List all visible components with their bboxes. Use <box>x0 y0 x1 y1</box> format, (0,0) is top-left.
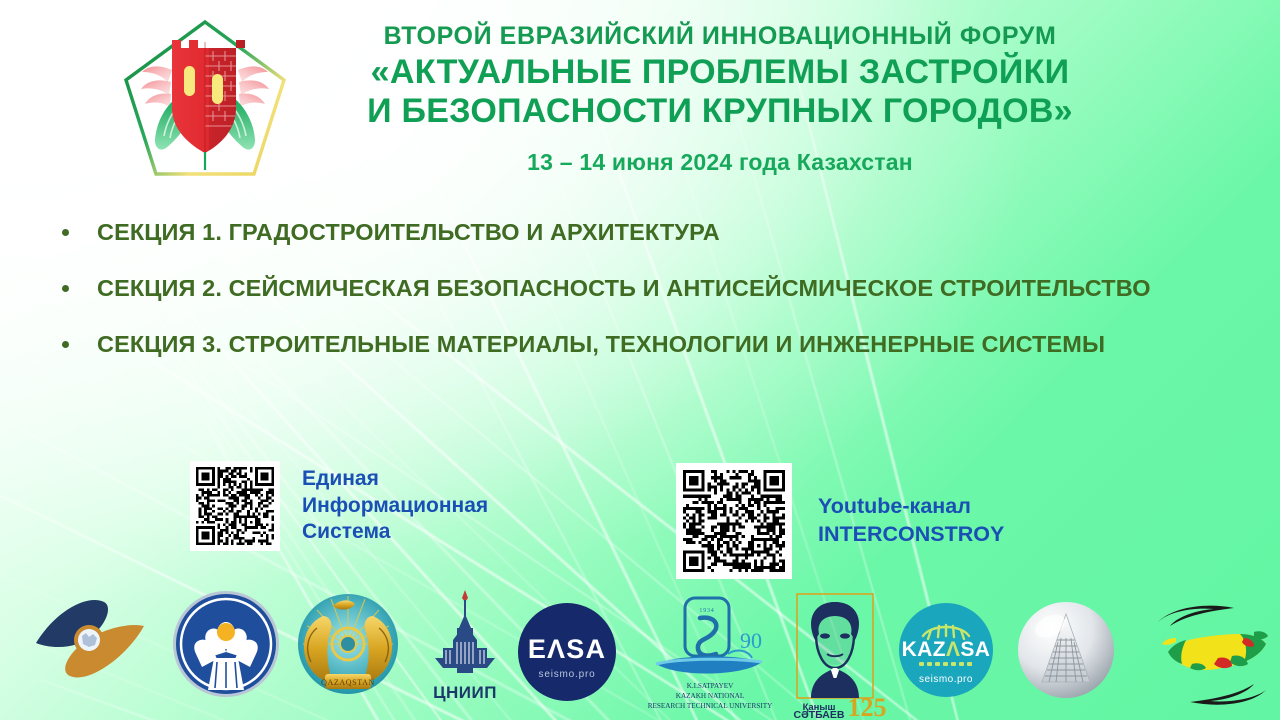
section-item-2: СЕКЦИЯ 2. СЕЙСМИЧЕСКАЯ БЕЗОПАСНОСТЬ И АН… <box>62 274 1202 303</box>
satbayev-sublabel-line3: RESEARCH TECHNICAL UNIVERSITY <box>648 702 773 710</box>
partner-logo-cis <box>170 588 282 720</box>
qr-group-youtube[interactable]: Youtube-канал INTERCONSTROY <box>676 463 1004 579</box>
section-label-1: СЕКЦИЯ 1. ГРАДОСТРОИТЕЛЬСТВО И АРХИТЕКТУ… <box>97 218 720 247</box>
header-block: ВТОРОЙ ЕВРАЗИЙСКИЙ ИННОВАЦИОННЫЙ ФОРУМ «… <box>300 22 1140 176</box>
kazakhstan-emblem-icon: QAZAQSTAN <box>293 588 403 700</box>
qr-caption-youtube: Youtube-канал INTERCONSTROY <box>818 493 1004 548</box>
satbayev-125-anniversary: 125 <box>848 693 887 718</box>
kazakhstan-emblem-label: QAZAQSTAN <box>321 678 375 687</box>
slide-canvas: ВТОРОЙ ЕВРАЗИЙСКИЙ ИННОВАЦИОННЫЙ ФОРУМ «… <box>0 0 1280 720</box>
satbayev-portrait-icon: Қаныш СӘТБАЕВ 125 <box>775 590 895 718</box>
satbayev-125-name-line2: СӘТБАЕВ <box>794 709 845 718</box>
satbayev-sublabel-line1: K.I.SATPAYEV <box>687 682 734 690</box>
forum-title-line-1: «АКТУАЛЬНЫЕ ПРОБЛЕМЫ ЗАСТРОЙКИ <box>300 53 1140 92</box>
partner-logo-satbayev-university: 1934 90 K.I.SATPAYEV KAZAKH NATIONAL RES… <box>640 592 780 720</box>
section-label-3: СЕКЦИЯ 3. СТРОИТЕЛЬНЫЕ МАТЕРИАЛЫ, ТЕХНОЛ… <box>97 330 1105 359</box>
section-item-1: СЕКЦИЯ 1. ГРАДОСТРОИТЕЛЬСТВО И АРХИТЕКТУ… <box>62 218 1202 247</box>
forum-kicker: ВТОРОЙ ЕВРАЗИЙСКИЙ ИННОВАЦИОННЫЙ ФОРУМ <box>300 22 1140 50</box>
forum-logo <box>114 12 296 190</box>
bullet-icon <box>62 341 69 348</box>
cis-hands-sun-icon <box>170 588 282 700</box>
forum-date-location: 13 – 14 июня 2024 года Казахстан <box>300 149 1140 176</box>
section-item-3: СЕКЦИЯ 3. СТРОИТЕЛЬНЫЕ МАТЕРИАЛЫ, ТЕХНОЛ… <box>62 330 1202 359</box>
partner-logo-strip: QAZAQSTAN <box>0 588 1280 720</box>
qr-codes-block: Единая Информационная Система Youtube-ка… <box>0 455 1280 590</box>
eaeu-bird-icon <box>26 588 156 698</box>
forum-emblem-icon <box>114 12 296 190</box>
partner-logo-tsniip: ЦНИИП <box>413 588 517 720</box>
partner-logo-kazakhstan-emblem: QAZAQSTAN <box>293 588 403 720</box>
qr-code-eis-card[interactable] <box>190 461 280 551</box>
partner-logo-russia-map <box>1148 594 1276 720</box>
easa-sublabel: seismo.pro <box>539 669 596 680</box>
silver-sphere-pyramid-icon <box>1014 598 1118 702</box>
partner-logo-easa: EΛSA seismo.pro <box>512 600 622 720</box>
svg-text:1934: 1934 <box>699 608 714 614</box>
partner-logo-satbayev-125: Қаныш СӘТБАЕВ 125 <box>775 590 895 720</box>
forum-title-line-2: И БЕЗОПАСНОСТИ КРУПНЫХ ГОРОДОВ» <box>300 92 1140 131</box>
partner-logo-sphere <box>1014 598 1118 720</box>
sections-list: СЕКЦИЯ 1. ГРАДОСТРОИТЕЛЬСТВО И АРХИТЕКТУ… <box>62 218 1202 359</box>
bullet-icon <box>62 285 69 292</box>
tsniip-label: ЦНИИП <box>413 683 517 703</box>
qr-code-icon[interactable] <box>683 470 785 572</box>
qr-code-youtube-card[interactable] <box>676 463 792 579</box>
bullet-icon <box>62 229 69 236</box>
section-label-2: СЕКЦИЯ 2. СЕЙСМИЧЕСКАЯ БЕЗОПАСНОСТЬ И АН… <box>97 274 1151 303</box>
easa-label: EΛSA <box>528 634 606 664</box>
satbayev-anniversary-label: 90 <box>740 628 762 653</box>
satbayev-university-icon: 1934 90 K.I.SATPAYEV KAZAKH NATIONAL RES… <box>640 592 780 718</box>
qr-caption-eis: Единая Информационная Система <box>302 466 488 547</box>
partner-logo-eaeu <box>26 588 156 720</box>
russia-map-hands-icon <box>1148 594 1276 712</box>
kazasa-circle-icon: KAZΛSA seismo.pro <box>893 600 999 706</box>
tsniip-building-icon <box>413 588 517 684</box>
kazasa-label: KAZΛSA <box>902 638 991 661</box>
partner-logo-kazasa: KAZΛSA seismo.pro <box>893 600 999 720</box>
qr-code-icon[interactable] <box>196 467 274 545</box>
satbayev-sublabel-line2: KAZAKH NATIONAL <box>676 692 744 700</box>
easa-circle-icon: EΛSA seismo.pro <box>512 600 622 710</box>
kazasa-sublabel: seismo.pro <box>919 674 973 685</box>
qr-group-eis[interactable]: Единая Информационная Система <box>190 461 488 551</box>
